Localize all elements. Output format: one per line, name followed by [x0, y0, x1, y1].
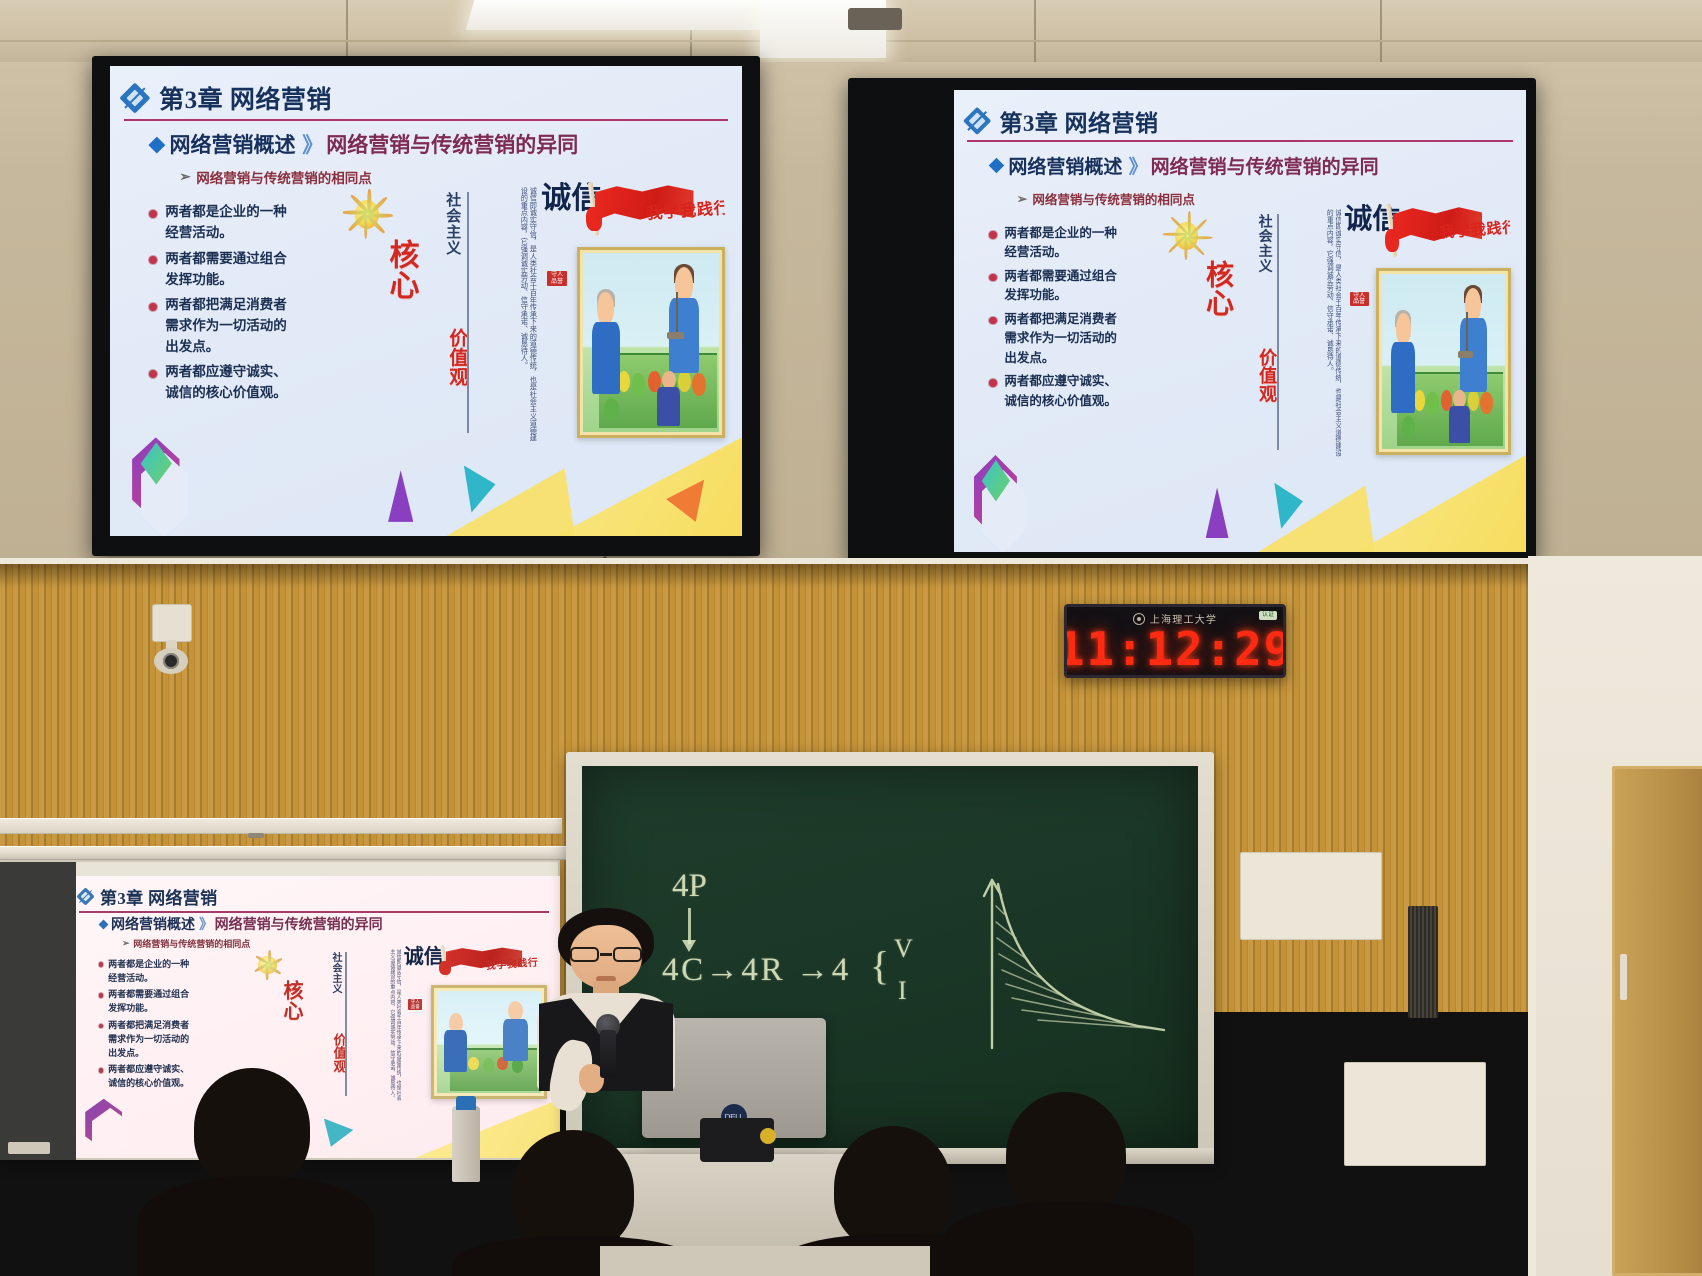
bottle-cap	[456, 1096, 476, 1110]
chevron-icon: 》	[199, 914, 210, 934]
core-values-poster: 社会主义 核心 价值观 诚信即诚实守信，是人类社会千百年传承下来的道德传统，也是…	[1160, 201, 1515, 469]
bullet-text: 两者都是企业的一种 经营活动。	[108, 958, 189, 986]
bullet-dot-icon	[99, 962, 104, 967]
clock-time-display: 11:12:29	[1067, 627, 1283, 671]
door[interactable]	[1612, 766, 1702, 1276]
cartoon-customer	[591, 292, 621, 392]
bullet-dot-icon	[149, 256, 157, 264]
display-left[interactable]: 第3章 网络营销 网络营销概述 》 网络营销与传统营销的异同 ➢ 网络营销与传统…	[92, 56, 760, 556]
bullet-text: 两者都需要通过组合 发挥功能。	[165, 249, 287, 291]
yellow-wedge-decoration-2	[1229, 478, 1378, 552]
digital-wall-clock: 上海理工大学 认证 11:12:29	[1064, 604, 1286, 678]
core-values-vertical: 社会主义	[442, 192, 463, 256]
bullet-dot-icon	[149, 303, 157, 311]
market-stall-cartoon	[431, 985, 547, 1099]
flag-script-text: 我学我践行	[1439, 217, 1512, 262]
poster-seal: 守人品誉	[408, 999, 422, 1010]
projection-screen-rail-2	[0, 846, 566, 860]
slide-left: 第3章 网络营销 网络营销概述 》 网络营销与传统营销的异同 ➢ 网络营销与传统…	[110, 66, 742, 536]
red-flag-graphic: 我学我践行	[1380, 201, 1511, 271]
section-subtitle: 网络营销与传统营销的异同	[215, 914, 383, 934]
section-subtitle: 网络营销与传统营销的异同	[1151, 152, 1379, 179]
poster-seal: 守人品誉	[1350, 292, 1369, 307]
presenter	[558, 908, 654, 1030]
hexagon-decoration	[974, 455, 1017, 538]
poster-paragraph: 诚信即诚实守信，是人类社会千百年传承下来的道德传统，也是社会主义道德建设的重点内…	[349, 949, 401, 1103]
section-title: 网络营销概述	[111, 914, 195, 934]
compass-diamond-logo	[119, 83, 150, 114]
wall-access-panel	[1240, 852, 1382, 940]
bullet-dot-icon	[99, 1024, 104, 1029]
bullet-text: 两者都应遵守诚实、 诚信的核心价值观。	[1004, 372, 1117, 411]
slide-section-row: 网络营销概述 》 网络营销与传统营销的异同	[100, 914, 383, 934]
section-title: 网络营销概述	[170, 129, 296, 159]
slide-title-bar: 第3章 网络营销	[124, 80, 728, 121]
cartoon-customer	[443, 1013, 468, 1070]
triangle-decoration-teal	[1274, 483, 1303, 529]
screen-label	[8, 1142, 50, 1154]
slide-title: 第3章 网络营销	[159, 80, 332, 116]
section-title: 网络营销概述	[1008, 152, 1122, 179]
chalk-decay-curve-diagram	[968, 862, 1178, 1052]
triangle-decoration-teal	[324, 1119, 354, 1147]
sub-arrow-icon: ➢	[1017, 191, 1027, 207]
red-flag-graphic: 我学我践行	[580, 179, 725, 250]
core-values-block: 社会主义 核心 价值观	[1195, 204, 1277, 461]
bullet-dot-icon	[989, 231, 996, 238]
cartoon-bystander	[1449, 390, 1471, 443]
core-values-big: 核心	[1197, 260, 1237, 317]
chevron-icon: 》	[302, 129, 319, 159]
chalk-arrow-down-head	[682, 940, 696, 952]
slide-projected: 第3章 网络营销 网络营销概述 》 网络营销与传统营销的异同 ➢ 网络营销与传统…	[68, 876, 560, 1158]
hexagon-decoration	[132, 437, 179, 522]
bullet-text: 两者都是企业的一种 经营活动。	[1004, 224, 1117, 263]
bullet-text: 两者都把满足消费者 需求作为一切活动的 出发点。	[1004, 310, 1117, 368]
desk-edge	[600, 1246, 930, 1276]
bullet-dot-icon	[99, 1068, 104, 1073]
bullet-text: 两者都是企业的一种 经营活动。	[165, 202, 287, 244]
projection-screen-rail	[0, 818, 562, 834]
red-flag-graphic: 我学我践行	[434, 944, 547, 987]
bullet-text: 两者都应遵守诚实、 诚信的核心价值观。	[165, 362, 287, 404]
poster-paragraph: 诚信即诚实守信，是人类社会千百年传承下来的道德传统，也是社会主义道德建设的重点内…	[471, 187, 538, 443]
bullet-text: 两者都需要通过组合 发挥功能。	[1004, 267, 1117, 306]
bullet-dot-icon	[149, 210, 157, 218]
slide-title: 第3章 网络营销	[999, 104, 1158, 138]
sub-arrow-icon: ➢	[122, 938, 130, 949]
status-led	[760, 1128, 776, 1144]
poster-divider	[1277, 214, 1279, 451]
cartoon-vendor	[502, 1001, 529, 1060]
chalk-brace: {	[870, 942, 889, 989]
door-handle[interactable]	[1620, 954, 1627, 1000]
microphone-body[interactable]	[600, 1030, 616, 1078]
rail-stop	[248, 833, 264, 838]
market-stall-cartoon	[1376, 268, 1511, 456]
core-values-vertical: 社会主义	[1254, 214, 1274, 273]
poster-paragraph: 诚信即诚实守信，是人类社会千百年传承下来的道德传统，也是社会主义道德建设的重点内…	[1280, 209, 1340, 461]
camera-lens-icon	[163, 653, 179, 669]
market-stall-cartoon	[577, 247, 726, 438]
blue-diamond-icon	[989, 158, 1004, 173]
core-values-block: 社会主义 核心 价值观	[377, 182, 467, 444]
bullet-dot-icon	[149, 370, 157, 378]
wall-access-panel-lower	[1344, 1062, 1486, 1166]
slide-right: 第3章 网络营销 网络营销概述 》 网络营销与传统营销的异同 ➢ 网络营销与传统…	[954, 90, 1526, 552]
core-values-big: 核心	[378, 239, 422, 300]
slide-sub-heading-row: ➢ 网络营销与传统营销的相同点	[122, 937, 250, 950]
chalk-text-v: V	[894, 934, 913, 964]
audience-head	[512, 1130, 634, 1252]
poster-seal: 守人品誉	[547, 271, 567, 286]
chalk-arrow-down-shaft	[688, 908, 691, 944]
audience-shoulders	[138, 1176, 374, 1276]
cartoon-customer	[1390, 313, 1417, 411]
slide-title: 第3章 网络营销	[100, 884, 217, 909]
chalk-text-i: I	[898, 976, 907, 1006]
audience-head	[834, 1126, 952, 1250]
wall-camera-mount	[152, 604, 192, 642]
hexagon-decoration	[85, 1099, 122, 1150]
core-values-big: 核心	[277, 980, 306, 1021]
audience-head	[194, 1068, 310, 1188]
wall-speaker	[1408, 906, 1438, 1018]
water-bottle	[452, 1106, 480, 1182]
compass-diamond-logo	[962, 106, 991, 135]
wall-trim-upper	[0, 558, 1702, 564]
chevron-icon: 》	[1129, 152, 1145, 179]
clock-badge: 认证	[1259, 611, 1277, 620]
ceiling-light-left	[466, 0, 775, 30]
sub-arrow-icon: ➢	[180, 169, 191, 185]
yellow-wedge-decoration-2	[413, 461, 577, 536]
poster-divider	[345, 952, 347, 1096]
flag-script-text: 我学我践行	[485, 953, 548, 982]
bullet-dot-icon	[989, 317, 996, 324]
bullet-text: 两者都需要通过组合 发挥功能。	[108, 988, 189, 1016]
blue-diamond-icon	[99, 919, 109, 929]
bullet-dot-icon	[99, 993, 104, 998]
bullet-text: 两者都把满足消费者 需求作为一切活动的 出发点。	[108, 1019, 189, 1061]
audience-shoulders	[944, 1202, 1194, 1276]
classroom-photo: 第3章 网络营销 网络营销概述 》 网络营销与传统营销的异同 ➢ 网络营销与传统…	[0, 0, 1702, 1276]
core-values-vertical: 社会主义	[328, 952, 343, 994]
sub-heading: 网络营销与传统营销的相同点	[133, 937, 250, 950]
slide-section-row: 网络营销概述 》 网络营销与传统营销的异同	[151, 129, 578, 159]
triangle-decoration-teal	[464, 466, 496, 513]
core-values-poster: 社会主义 核心 价值观 诚信即诚实守信，是人类社会千百年传承下来的道德传统，也是…	[338, 179, 730, 452]
triangle-decoration-purple	[388, 470, 413, 522]
right-wall-trim	[1528, 556, 1536, 1276]
screen-left-shadow	[0, 862, 76, 1160]
audience-head	[1006, 1092, 1126, 1218]
eyeglasses-icon	[570, 947, 643, 962]
bullet-text: 两者都把满足消费者 需求作为一切活动的 出发点。	[165, 295, 287, 358]
chalk-text-4p: 4P	[672, 868, 707, 905]
cartoon-bystander	[656, 371, 681, 425]
cartoon-vendor	[1458, 288, 1487, 390]
chalk-text-4c4r4: 4C→4R →4	[662, 952, 851, 989]
display-right[interactable]: 第3章 网络营销 网络营销概述 》 网络营销与传统营销的异同 ➢ 网络营销与传统…	[848, 78, 1536, 564]
bullet-dot-icon	[989, 274, 996, 281]
slide-section-row: 网络营销概述 》 网络营销与传统营销的异同	[991, 152, 1378, 179]
bullet-dot-icon	[989, 379, 996, 386]
ceiling-vent	[848, 8, 902, 30]
flag-script-text: 我学我践行	[646, 195, 727, 241]
slide-title-bar: 第3章 网络营销	[967, 104, 1514, 143]
triangle-decoration-purple	[1206, 487, 1229, 538]
blue-diamond-icon	[149, 136, 166, 153]
compass-diamond-logo	[76, 888, 94, 906]
poster-divider	[467, 192, 469, 433]
cartoon-vendor	[667, 267, 700, 371]
bullet-text: 两者都应遵守诚实、 诚信的核心价值观。	[108, 1063, 189, 1091]
section-subtitle: 网络营销与传统营销的异同	[326, 129, 578, 159]
slide-title-bar: 第3章 网络营销	[79, 884, 549, 913]
